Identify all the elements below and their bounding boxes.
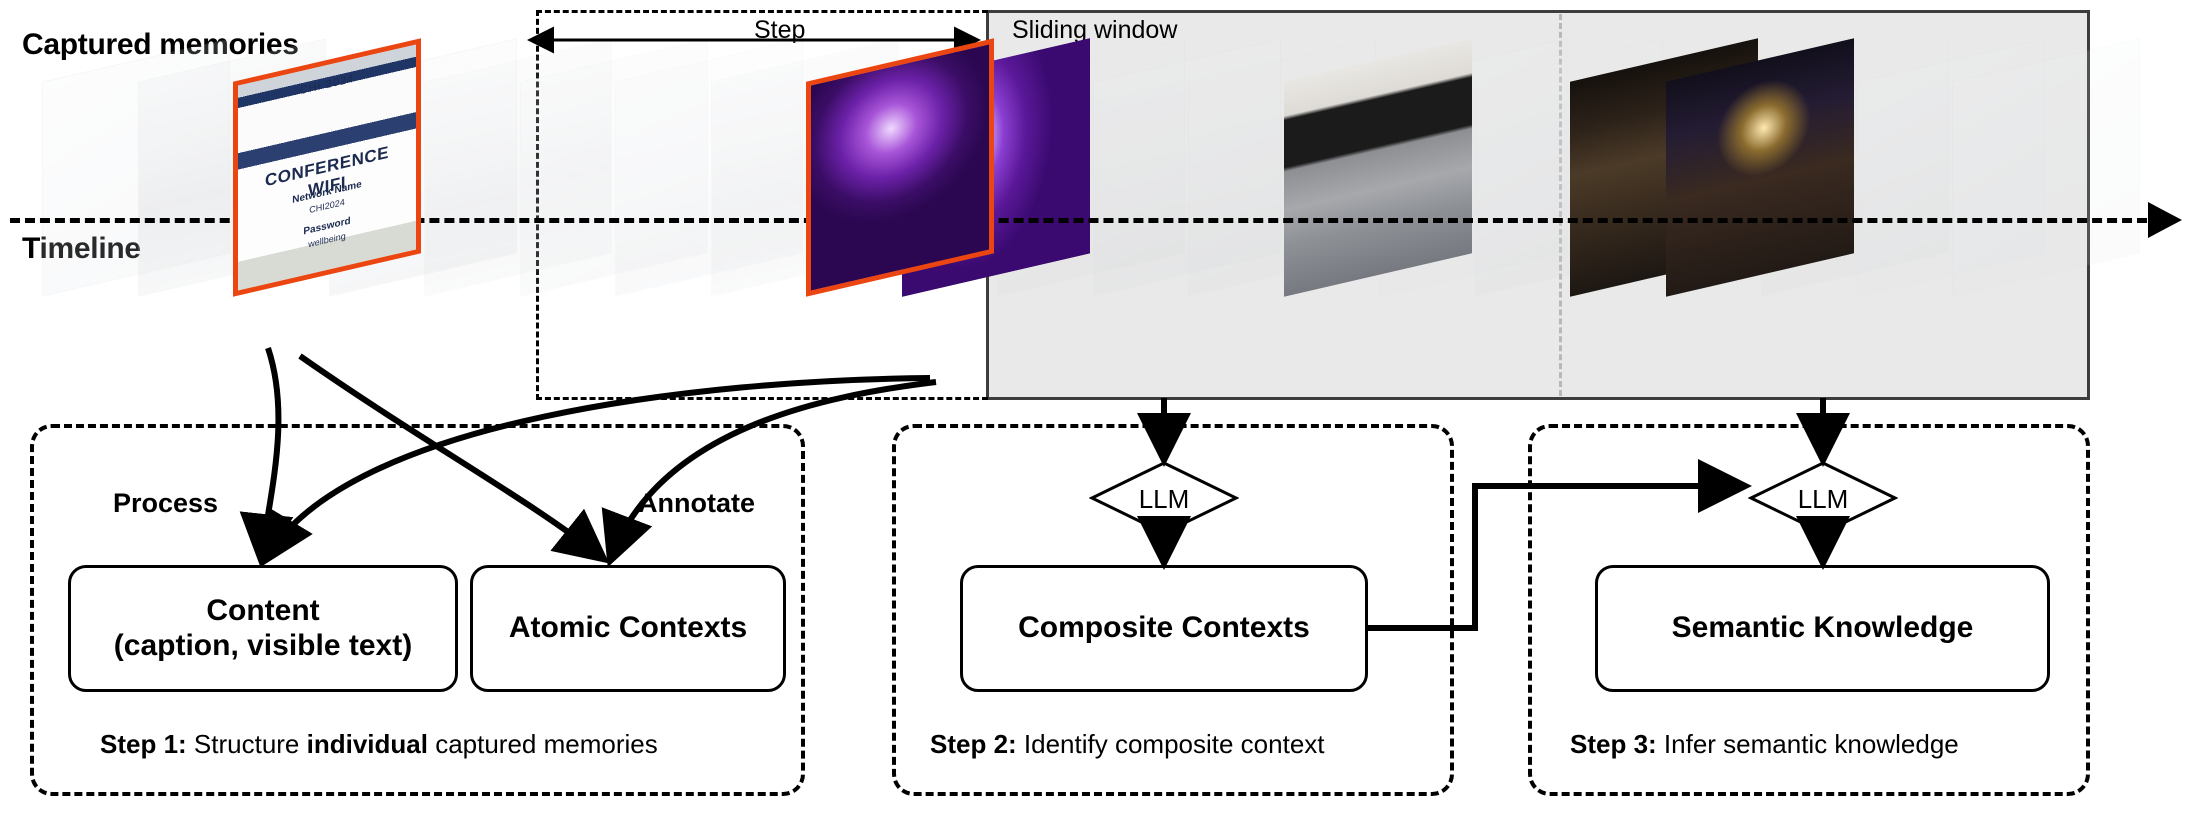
llm-diamond-step3[interactable]: LLM bbox=[1748, 460, 1898, 536]
sliding-window-label: Sliding window bbox=[1012, 18, 1177, 43]
diagram-canvas: CHI 2024CONFERENCE WIFINetwork NameCHI20… bbox=[0, 0, 2200, 814]
step2-caption: Step 2: Identify composite context bbox=[930, 729, 1325, 760]
step1-text-before: Structure bbox=[187, 729, 307, 759]
memory-frame-strip: CHI 2024CONFERENCE WIFINetwork NameCHI20… bbox=[0, 60, 2200, 320]
step3-text-before: Infer semantic knowledge bbox=[1657, 729, 1959, 759]
step2-prefix: Step 2: bbox=[930, 729, 1017, 759]
step3-caption: Step 3: Infer semantic knowledge bbox=[1570, 729, 1959, 760]
step2-text-before: Identify composite context bbox=[1017, 729, 1325, 759]
step1-caption: Step 1: Structure individual captured me… bbox=[100, 729, 658, 760]
process-arrow-label: Process bbox=[113, 490, 218, 517]
memory-frame: CHI 2024CONFERENCE WIFINetwork NameCHI20… bbox=[233, 38, 421, 296]
semantic-knowledge-node[interactable]: Semantic Knowledge bbox=[1595, 565, 2050, 692]
memory-frame bbox=[806, 38, 994, 296]
annotate-arrow-label: Annotate bbox=[638, 490, 755, 517]
timeline-arrowhead-icon bbox=[2148, 202, 2182, 238]
content-node[interactable]: Content (caption, visible text) bbox=[68, 565, 458, 692]
memory-frame bbox=[1284, 38, 1472, 296]
composite-contexts-node[interactable]: Composite Contexts bbox=[960, 565, 1368, 692]
step3-prefix: Step 3: bbox=[1570, 729, 1657, 759]
llm-diamond-step2[interactable]: LLM bbox=[1089, 460, 1239, 536]
memory-frame bbox=[1952, 38, 2140, 296]
memory-frame bbox=[1666, 38, 1854, 296]
llm-diamond-step2-label: LLM bbox=[1089, 484, 1239, 515]
content-node-line2: (caption, visible text) bbox=[114, 629, 412, 662]
content-node-line1: Content bbox=[206, 594, 319, 627]
step1-emphasis: individual bbox=[307, 729, 428, 759]
step1-text-after: captured memories bbox=[428, 729, 658, 759]
llm-diamond-step3-label: LLM bbox=[1748, 484, 1898, 515]
atomic-contexts-node[interactable]: Atomic Contexts bbox=[470, 565, 786, 692]
step1-prefix: Step 1: bbox=[100, 729, 187, 759]
step-label: Step bbox=[740, 18, 819, 43]
